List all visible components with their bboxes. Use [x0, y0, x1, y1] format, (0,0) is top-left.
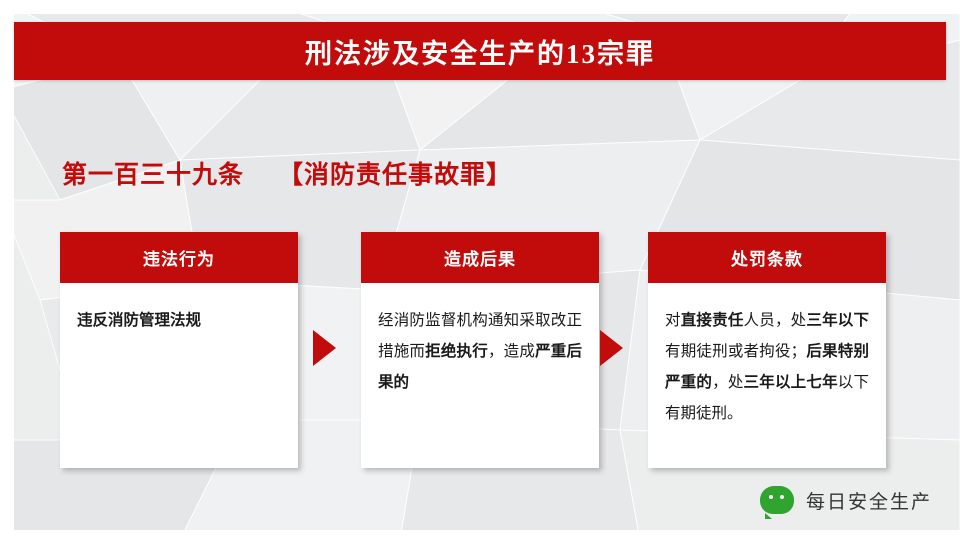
slide-canvas: 刑法涉及安全生产的13宗罪 第一百三十九条 【消防责任事故罪】 违法行为 违反消… [0, 0, 960, 540]
bottom-margin [0, 530, 960, 540]
article-heading: 第一百三十九条 【消防责任事故罪】 [62, 155, 512, 191]
page-title: 刑法涉及安全生产的13宗罪 [305, 32, 655, 71]
slide-title-bar: 刑法涉及安全生产的13宗罪 [14, 22, 946, 80]
card-violation-header-label: 违法行为 [143, 245, 215, 270]
card-consequence-header: 造成后果 [361, 232, 599, 283]
wechat-icon [760, 486, 794, 514]
card-penalty-body: 对直接责任人员，处三年以下有期徒刑或者拘役；后果特别严重的，处三年以上七年以下有… [648, 283, 886, 468]
arrow-right-icon-1 [313, 330, 336, 366]
card-row: 违法行为 违反消防管理法规 造成后果 经消防监督机构通知采取改正措施而拒绝执行，… [60, 232, 900, 468]
left-margin [0, 0, 14, 540]
card-consequence: 造成后果 经消防监督机构通知采取改正措施而拒绝执行，造成严重后果的 [361, 232, 599, 468]
card-penalty-header-label: 处罚条款 [731, 245, 803, 270]
arrow-right-icon-2 [600, 330, 623, 366]
card-consequence-body: 经消防监督机构通知采取改正措施而拒绝执行，造成严重后果的 [361, 283, 599, 468]
card-penalty-header: 处罚条款 [648, 232, 886, 283]
card-violation: 违法行为 违反消防管理法规 [60, 232, 298, 468]
wechat-icon-eye-left [769, 495, 773, 499]
card-violation-body: 违反消防管理法规 [60, 283, 298, 468]
top-margin [0, 0, 960, 14]
card-violation-header: 违法行为 [60, 232, 298, 283]
wechat-icon-eye-right [780, 495, 784, 499]
article-name: 【消防责任事故罪】 [278, 155, 512, 191]
card-penalty: 处罚条款 对直接责任人员，处三年以下有期徒刑或者拘役；后果特别严重的，处三年以上… [648, 232, 886, 468]
wechat-account-name: 每日安全生产 [806, 487, 932, 514]
card-consequence-header-label: 造成后果 [444, 245, 516, 270]
article-number: 第一百三十九条 [62, 155, 244, 191]
wechat-account-footer: 每日安全生产 [760, 486, 932, 514]
